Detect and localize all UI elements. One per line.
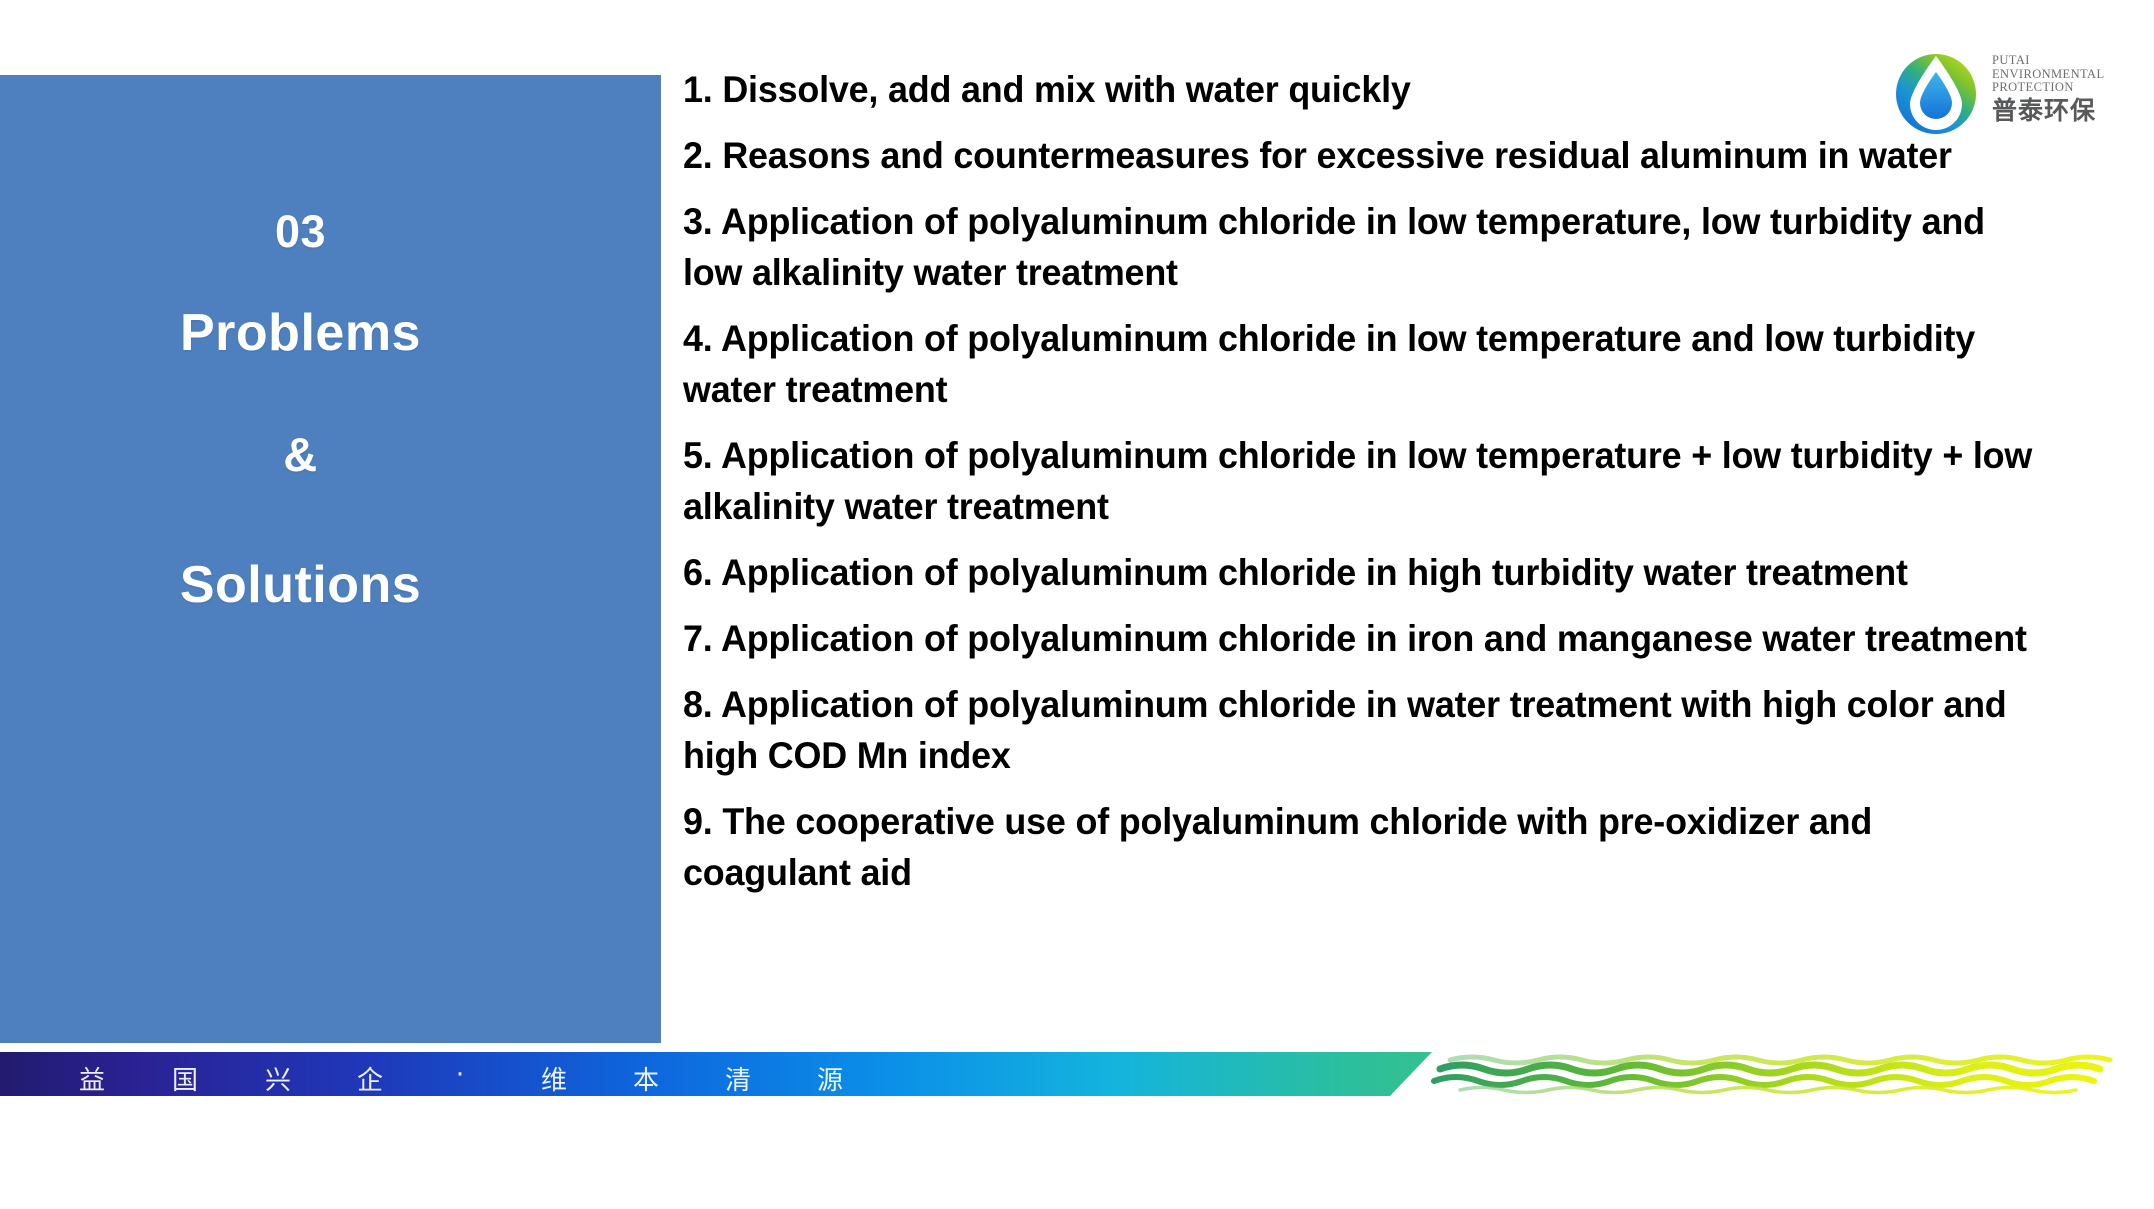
section-number: 03 — [0, 206, 601, 258]
logo-chinese-name: 普泰环保 — [1992, 97, 2140, 124]
logo-en-line-1: PUTAI — [1992, 54, 2140, 68]
list-item: 7. Application of polyaluminum chloride … — [683, 613, 2041, 664]
company-logo: PUTAI ENVIRONMENTAL PROTECTION 普泰环保 — [1890, 48, 2140, 140]
section-panel: 03 Problems & Solutions — [0, 75, 661, 1043]
list-item: 4. Application of polyaluminum chloride … — [683, 313, 2041, 415]
banner-char: 益 — [72, 1060, 112, 1096]
logo-en-line-2: ENVIRONMENTAL — [1992, 68, 2140, 82]
list-item: 8. Application of polyaluminum chloride … — [683, 679, 2041, 781]
banner-char: 国 — [165, 1060, 205, 1096]
list-item: 3. Application of polyaluminum chloride … — [683, 196, 2041, 298]
section-panel-inner: 03 Problems & Solutions — [0, 75, 661, 1043]
section-title-ampersand: & — [0, 427, 601, 482]
water-drop-logo-icon — [1890, 48, 1982, 140]
list-item: 2. Reasons and countermeasures for exces… — [683, 130, 2041, 181]
banner-char-separator: · — [440, 1060, 480, 1090]
section-title-solutions: Solutions — [0, 555, 601, 615]
section-title-problems: Problems — [0, 303, 601, 363]
banner-char: 本 — [626, 1060, 666, 1096]
banner-gradient-bar: 益 国 兴 企 · 维 本 清 源 — [0, 1052, 1432, 1096]
slide-canvas: 03 Problems & Solutions 1. Dissolve, add… — [0, 0, 2154, 1209]
list-item: 5. Application of polyaluminum chloride … — [683, 430, 2041, 532]
list-item: 1. Dissolve, add and mix with water quic… — [683, 64, 2041, 115]
banner-char: 源 — [810, 1060, 850, 1096]
banner-char: 清 — [718, 1060, 758, 1096]
list-item: 6. Application of polyaluminum chloride … — [683, 547, 2041, 598]
logo-text-block: PUTAI ENVIRONMENTAL PROTECTION 普泰环保 — [1992, 54, 2140, 124]
logo-en-line-3: PROTECTION — [1992, 81, 2140, 95]
bottom-banner: 益 国 兴 企 · 维 本 清 源 — [0, 1052, 2154, 1096]
banner-char: 企 — [350, 1060, 390, 1096]
banner-char: 兴 — [258, 1060, 298, 1096]
banner-char: 维 — [534, 1060, 574, 1096]
content-list: 1. Dissolve, add and mix with water quic… — [683, 64, 2083, 913]
banner-wave-decoration — [1420, 1052, 2154, 1096]
list-item: 9. The cooperative use of polyaluminum c… — [683, 796, 2041, 898]
